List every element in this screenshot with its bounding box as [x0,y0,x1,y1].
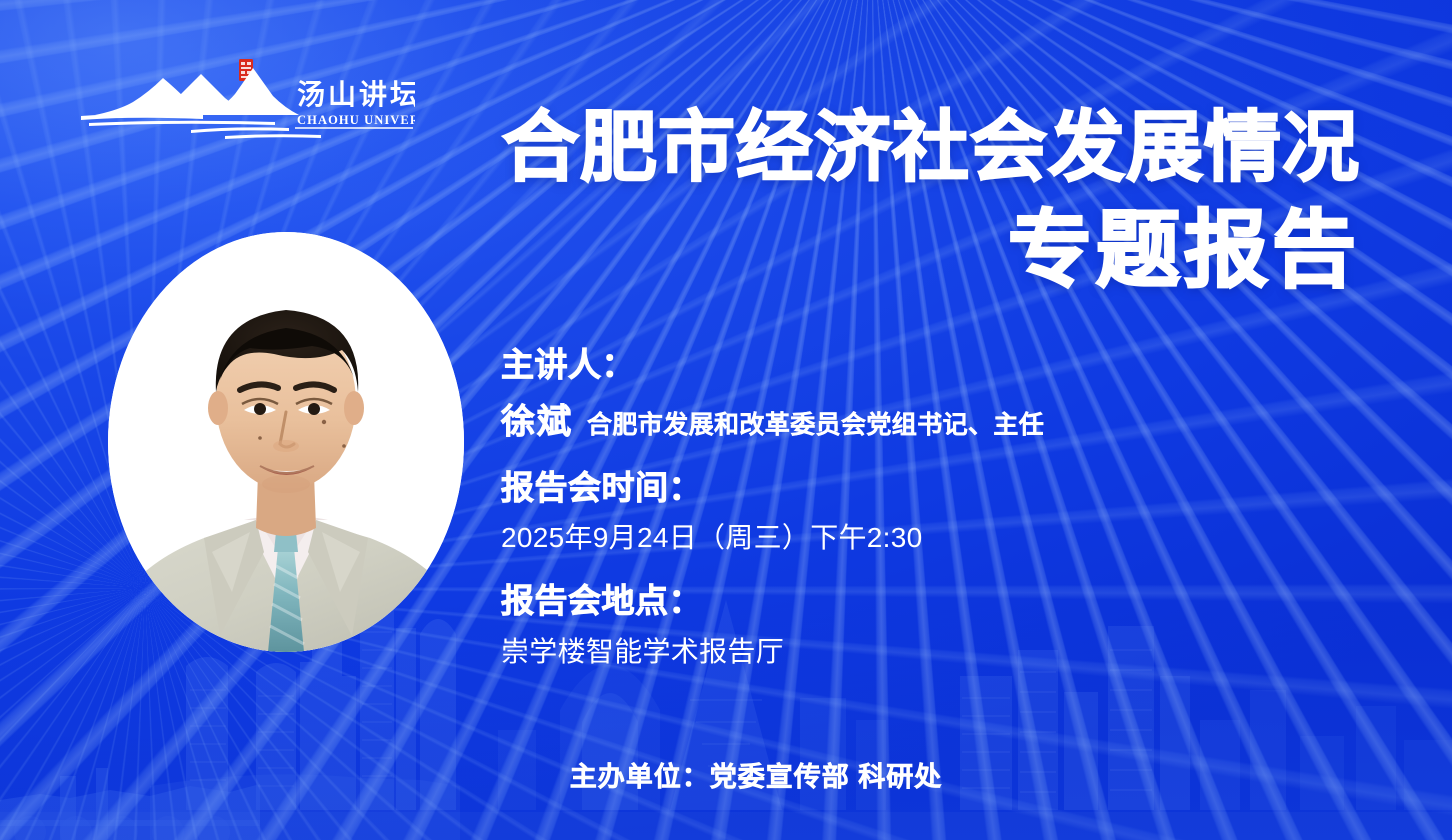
detail-spacer-1 [501,443,1044,467]
logo-en-text: CHAOHU UNIVERSITY [297,113,415,127]
chaohu-university-logo: 汤山讲坛 CHAOHU UNIVERSITY [75,58,415,144]
logo-cn-text: 汤山讲坛 [297,79,415,111]
venue-label: 报告会地点： [501,580,1044,622]
speaker-label: 主讲人： [501,344,1044,386]
speaker-name: 徐斌 [501,394,573,443]
speaker-position: 合肥市发展和改革委员会党组书记、主任 [587,405,1044,441]
venue-value: 崇学楼智能学术报告厅 [501,630,1044,670]
time-value: 2025年9月24日（周三）下午2:30 [501,516,1044,556]
time-label: 报告会时间： [501,467,1044,509]
organizer-footer: 主办单位：党委宣传部 科研处 [0,755,1452,794]
page-subtitle: 专题报告 [502,206,1360,295]
page-title: 合肥市经济社会发展情况 [502,108,1360,190]
event-details: 主讲人： 徐斌 合肥市发展和改革委员会党组书记、主任 报告会时间： 2025年9… [501,344,1044,670]
detail-spacer-2 [501,556,1044,580]
poster-title-block: 合肥市经济社会发展情况 专题报告 [502,108,1360,295]
event-poster: 汤山讲坛 CHAOHU UNIVERSITY [0,0,1452,840]
speaker-row: 徐斌 合肥市发展和改革委员会党组书记、主任 [501,394,1044,443]
speaker-portrait [108,232,464,652]
